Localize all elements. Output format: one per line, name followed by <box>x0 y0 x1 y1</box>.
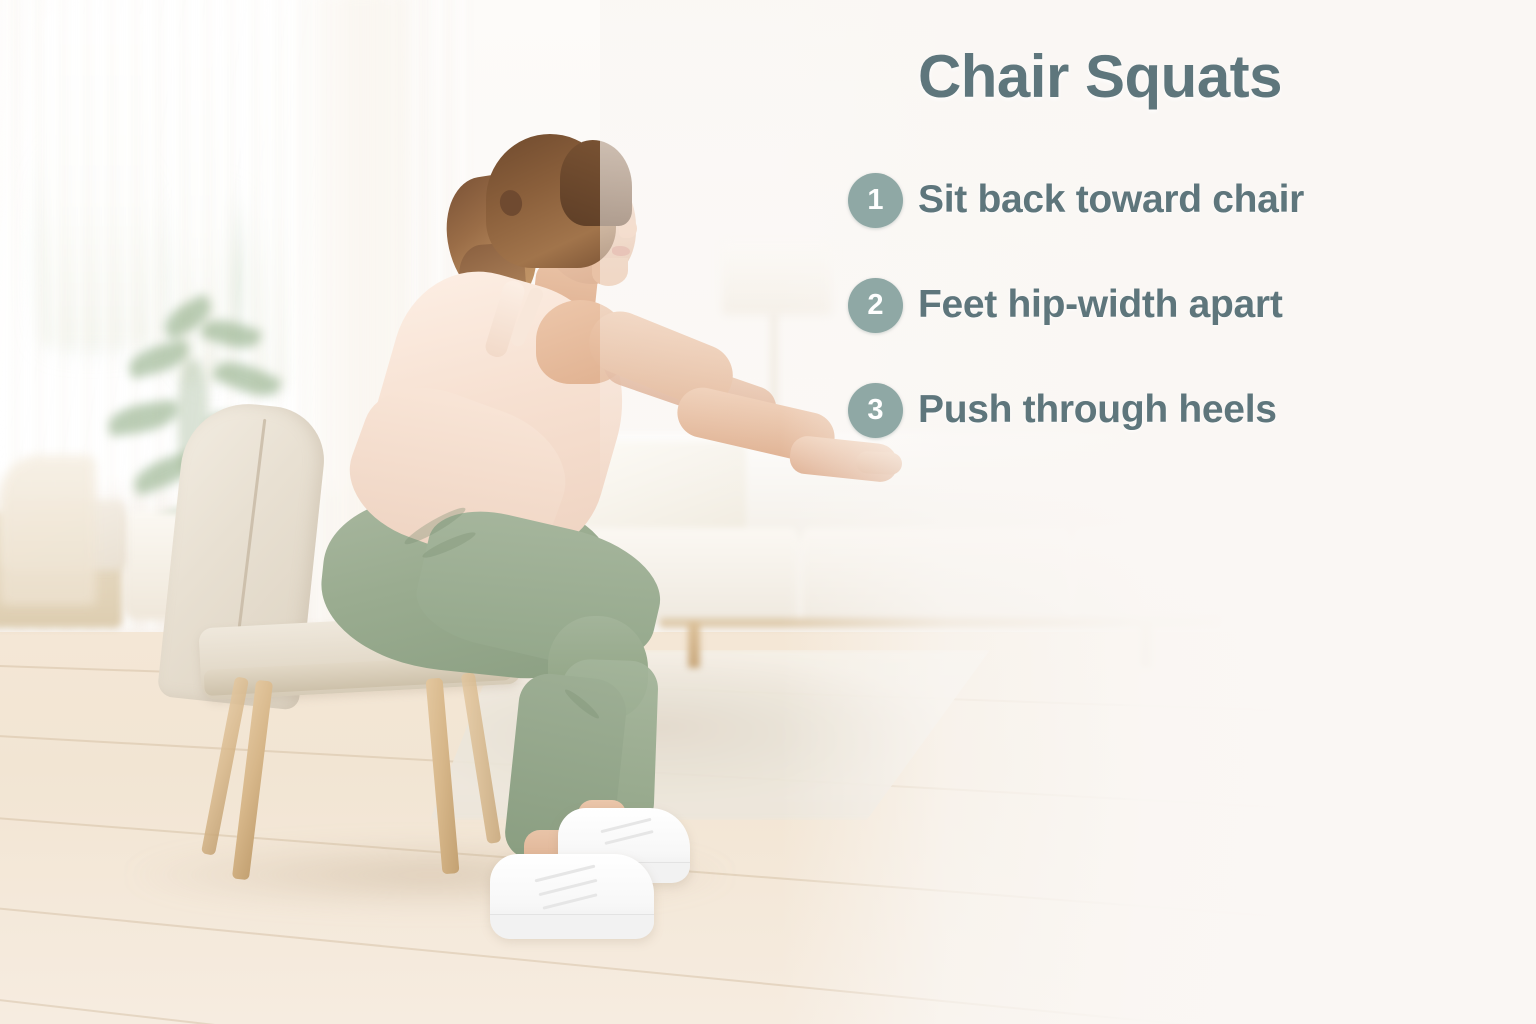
step-text: Feet hip-width apart <box>918 283 1283 327</box>
text-overlay: Chair Squats 1 Sit back toward chair 2 F… <box>0 0 1536 1024</box>
step-number-badge: 2 <box>848 278 903 333</box>
instruction-steps-list: 1 Sit back toward chair 2 Feet hip-width… <box>848 172 1408 487</box>
exercise-instruction-graphic: Chair Squats 1 Sit back toward chair 2 F… <box>0 0 1536 1024</box>
step-number-badge: 1 <box>848 173 903 228</box>
step-text: Sit back toward chair <box>918 178 1304 222</box>
step-text: Push through heels <box>918 388 1277 432</box>
step-number-badge: 3 <box>848 383 903 438</box>
instruction-step: 2 Feet hip-width apart <box>848 277 1408 333</box>
instruction-step: 1 Sit back toward chair <box>848 172 1408 228</box>
page-title: Chair Squats <box>790 44 1410 110</box>
instruction-step: 3 Push through heels <box>848 382 1408 438</box>
